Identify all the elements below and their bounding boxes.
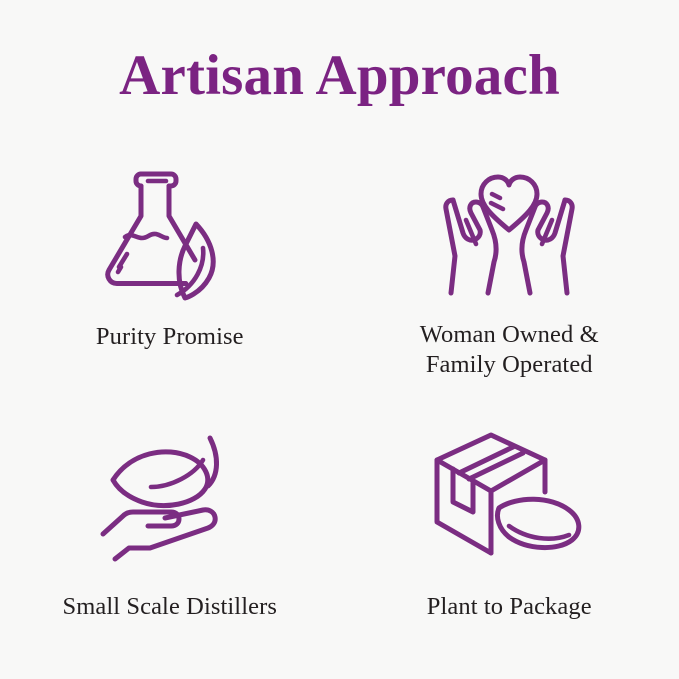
feature-item-plant-to-package: Plant to Package [340,400,679,650]
page-title: Artisan Approach [0,46,679,106]
feature-item-small-scale-distillers: Small Scale Distillers [0,400,340,650]
feature-grid: Purity Promise [0,150,679,650]
hands-heart-icon [429,158,589,308]
feature-label: Purity Promise [96,322,244,352]
artisan-approach-infographic: Artisan Approach [0,0,679,679]
flask-leaf-icon [90,158,250,308]
hand-leaf-icon [90,420,250,570]
feature-label: Woman Owned & Family Operated [420,320,599,380]
feature-label: Small Scale Distillers [62,592,277,622]
box-leaf-icon [429,420,589,570]
feature-label: Plant to Package [427,592,592,622]
feature-item-woman-owned: Woman Owned & Family Operated [340,150,679,400]
feature-item-purity-promise: Purity Promise [0,150,340,400]
